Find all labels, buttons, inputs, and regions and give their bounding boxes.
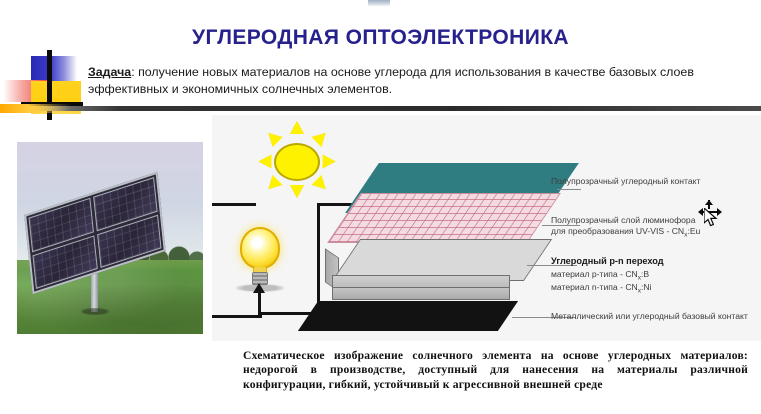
- label-phosphor-line1: Полупрозрачный слой люминофора: [551, 215, 695, 225]
- sun-ray: [311, 175, 330, 194]
- task-text: : получение новых материалов на основе у…: [88, 65, 694, 96]
- sun-disc: [274, 143, 320, 181]
- circuit-wire: [258, 291, 261, 315]
- diagram-caption: Схематическое изображение солнечного эле…: [243, 349, 748, 392]
- cursor-arrow-left: [698, 208, 703, 216]
- sun-icon: [255, 123, 339, 203]
- sun-ray: [290, 121, 304, 134]
- sun-ray: [323, 155, 336, 169]
- label-base-contact: Металлический или углеродный базовый кон…: [551, 311, 751, 322]
- task-label: Задача: [88, 65, 131, 79]
- leader-line: [557, 189, 581, 190]
- layer-base-contact: [298, 301, 518, 331]
- photo-pole-shadow: [81, 308, 109, 315]
- cursor-arrow-up: [705, 200, 713, 205]
- task-paragraph: Задача: получение новых материалов на ос…: [88, 64, 748, 98]
- label-pn-junction-title: Углеродный p-n переход: [551, 256, 751, 267]
- top-cutoff-artifact: [368, 0, 390, 6]
- label-phosphor-layer: Полупрозрачный слой люминофора для преоб…: [551, 215, 759, 241]
- sun-ray: [259, 155, 272, 169]
- label-p-type-pre: материал p-типа - CN: [551, 269, 638, 279]
- header-divider-accent: [0, 104, 72, 113]
- sun-ray: [290, 185, 304, 198]
- circuit-wire: [317, 203, 320, 315]
- move-cursor: [698, 200, 724, 230]
- label-n-type-post: :Ni: [641, 282, 652, 292]
- label-n-type-material: материал n-типа - CNx:Ni: [551, 282, 751, 297]
- label-top-contact: Полупрозрачный углеродный контакт: [551, 176, 757, 187]
- current-arrow-icon: [253, 283, 265, 293]
- bulb-glass: [240, 227, 280, 269]
- label-phosphor-line2-pre: для преобразования UV-VIS - CN: [551, 226, 684, 236]
- sun-ray: [311, 128, 330, 147]
- label-p-type-post: :B: [641, 269, 649, 279]
- solar-panel-photo: [17, 142, 203, 334]
- sun-ray: [263, 175, 282, 194]
- page-title: УГЛЕРОДНАЯ ОПТОЭЛЕКТРОНИКА: [0, 26, 761, 50]
- slide-canvas: УГЛЕРОДНАЯ ОПТОЭЛЕКТРОНИКА Задача: получ…: [0, 0, 761, 414]
- circuit-wire: [212, 315, 242, 318]
- cursor-pointer-icon: [704, 208, 718, 228]
- slab-n-layer-face: [332, 287, 510, 300]
- layer-pn-junction-slab: [324, 239, 538, 301]
- header-divider: [0, 106, 761, 111]
- circuit-wire: [212, 203, 256, 206]
- label-n-type-pre: материал n-типа - CN: [551, 282, 638, 292]
- layer-phosphor-grid: [327, 193, 561, 243]
- sun-ray: [263, 128, 282, 147]
- lightbulb-icon: [234, 227, 286, 291]
